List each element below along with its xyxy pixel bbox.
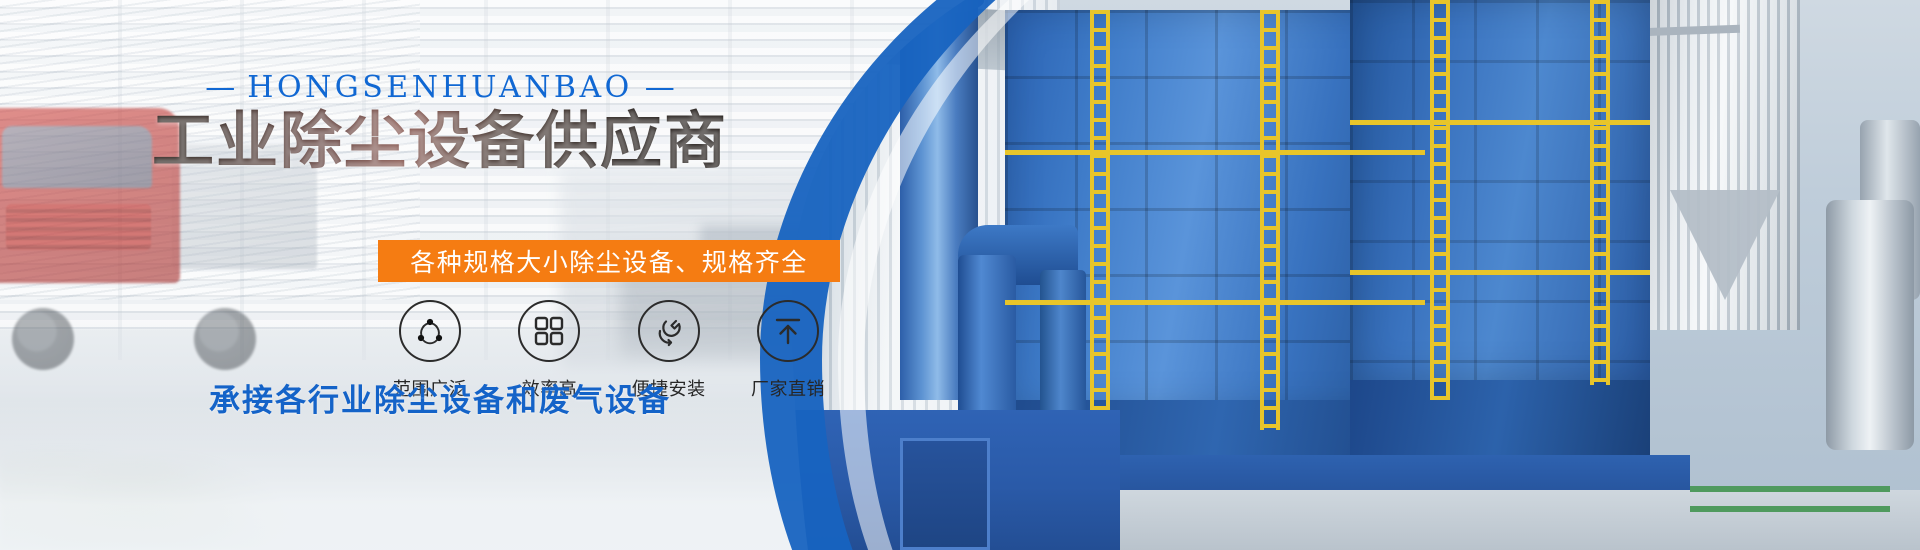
banner-tagline: 承接各行业除尘设备和废气设备	[0, 375, 880, 420]
green-rail-1	[1690, 506, 1890, 512]
green-rail-2	[1690, 486, 1890, 492]
brand-pinyin-eyebrow: —HONGSENHUANBAO—	[0, 70, 880, 105]
yellow-ladder-1	[1090, 10, 1110, 430]
cone-hopper	[1670, 190, 1780, 300]
grid-four-squares-icon	[518, 300, 580, 362]
network-spread-icon	[399, 300, 461, 362]
handrail-1	[1005, 150, 1425, 155]
right-cylinder-tank	[1826, 200, 1914, 450]
orange-band-text: 各种规格大小除尘设备、规格齐全	[410, 243, 808, 279]
yellow-ladder-2	[1260, 10, 1280, 430]
handrail-2	[1005, 300, 1425, 305]
eyebrow-text: HONGSENHUANBAO	[247, 70, 632, 105]
yellow-ladder-3	[1430, 0, 1450, 400]
photo-blue-door	[900, 438, 990, 550]
baghouse-skirt-right	[1350, 380, 1650, 460]
eyebrow-dash-right: —	[633, 70, 687, 105]
hero-banner: —HONGSENHUANBAO— 工业除尘设备供应商 各种规格大小除尘设备、规格…	[0, 0, 1920, 550]
industrial-equipment-photo	[790, 0, 1920, 550]
wrench-recycle-icon	[638, 300, 700, 362]
yellow-ladder-4	[1590, 0, 1610, 385]
orange-highlight-band: 各种规格大小除尘设备、规格齐全	[378, 240, 840, 282]
banner-content: —HONGSENHUANBAO— 工业除尘设备供应商 各种规格大小除尘设备、规格…	[0, 0, 900, 550]
eyebrow-dash-left: —	[193, 70, 247, 105]
headline-title: 工业除尘设备供应商	[0, 108, 880, 173]
arrow-up-line-icon	[757, 300, 819, 362]
